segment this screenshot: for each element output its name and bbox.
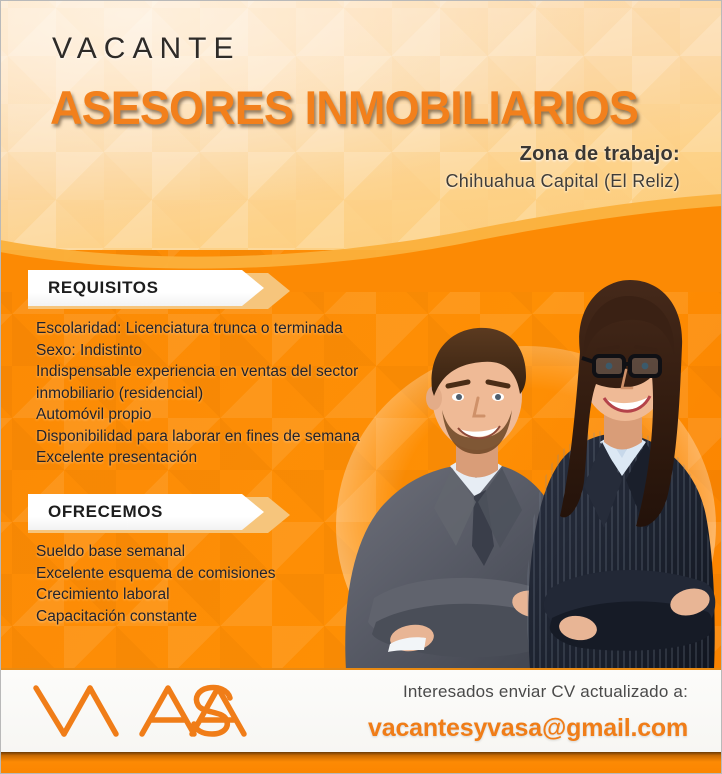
cv-instruction-text: Interesados enviar CV actualizado a: [403,682,688,702]
ofrecemos-item: Sueldo base semanal [36,541,276,563]
work-zone-label: Zona de trabajo: [445,143,680,166]
professionals-photo [316,246,722,670]
contact-email[interactable]: vacantesyvasa@gmail.com [368,714,688,743]
page-title: ASESORES INMOBILIARIOS [50,80,638,135]
requisitos-banner-label: REQUISITOS [48,270,159,306]
requisitos-item: Sexo: Indistinto [36,340,360,362]
requisitos-item: Excelente presentación [36,447,360,469]
requisitos-item: Escolaridad: Licenciatura trunca o termi… [36,318,360,340]
ofrecemos-item: Excelente esquema de comisiones [36,563,276,585]
ofrecemos-item: Crecimiento laboral [36,584,276,606]
bottom-accent-bar [0,752,722,774]
ofrecemos-list: Sueldo base semanal Excelente esquema de… [36,541,276,627]
ofrecemos-banner-label: OFRECEMOS [48,494,163,530]
job-vacancy-poster: VACANTE ASESORES INMOBILIARIOS Zona de t… [0,0,722,774]
ofrecemos-banner: OFRECEMOS [28,494,290,530]
ofrecemos-item: Capacitación constante [36,606,276,628]
poster-footer: Interesados enviar CV actualizado a: vac… [0,668,722,754]
requisitos-item: Indispensable experiencia en ventas del … [36,361,360,383]
yvasa-logo [30,680,256,747]
requisitos-item: Automóvil propio [36,404,360,426]
kicker-vacante: VACANTE [52,32,240,66]
requisitos-item: Disponibilidad para laborar en fines de … [36,426,360,448]
requisitos-banner: REQUISITOS [28,270,290,306]
requisitos-list: Escolaridad: Licenciatura trunca o termi… [36,318,360,469]
requisitos-item: inmobiliario (residencial) [36,383,360,405]
